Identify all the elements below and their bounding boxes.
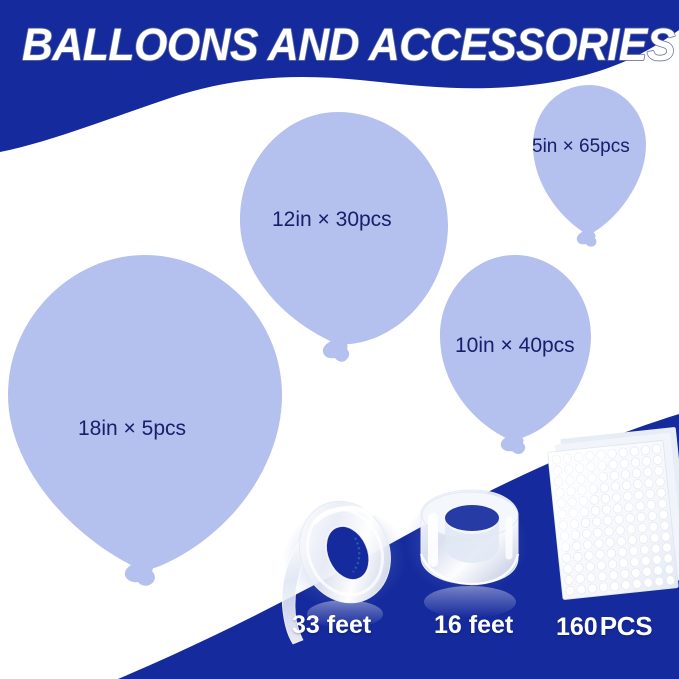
balloon-5in xyxy=(533,85,646,247)
glue-dots-unit: PCS xyxy=(600,611,653,641)
accessory-tape-wide xyxy=(404,490,528,618)
balloon-label-5in: 5in × 65pcs xyxy=(532,136,630,158)
balloon-12in xyxy=(240,112,448,362)
balloon-knot xyxy=(501,435,525,454)
balloon-knot xyxy=(125,561,155,586)
page-title: BALLOONS AND ACCESSORIES xyxy=(22,20,649,74)
glue-dots-count: 160 xyxy=(556,613,598,641)
caption-tape-thin: 33 feet xyxy=(292,611,371,640)
balloon-label-18in: 18in × 5pcs xyxy=(78,417,186,441)
balloon-label-12in: 12in × 30pcs xyxy=(272,208,392,232)
caption-tape-wide: 16 feet xyxy=(434,611,513,640)
balloon-knot xyxy=(323,340,349,362)
accessory-glue-dots xyxy=(546,427,679,600)
balloon-icon xyxy=(533,85,646,234)
tape-wide-core-hole xyxy=(445,505,499,531)
caption-glue-dots: 160PCS xyxy=(556,611,652,642)
balloon-knot xyxy=(577,231,597,247)
balloon-icon xyxy=(8,255,282,569)
product-artwork xyxy=(0,0,679,679)
product-infographic: BALLOONS AND ACCESSORIES 18in × 5pcs 12i… xyxy=(0,0,679,679)
balloon-label-10in: 10in × 40pcs xyxy=(455,334,575,358)
